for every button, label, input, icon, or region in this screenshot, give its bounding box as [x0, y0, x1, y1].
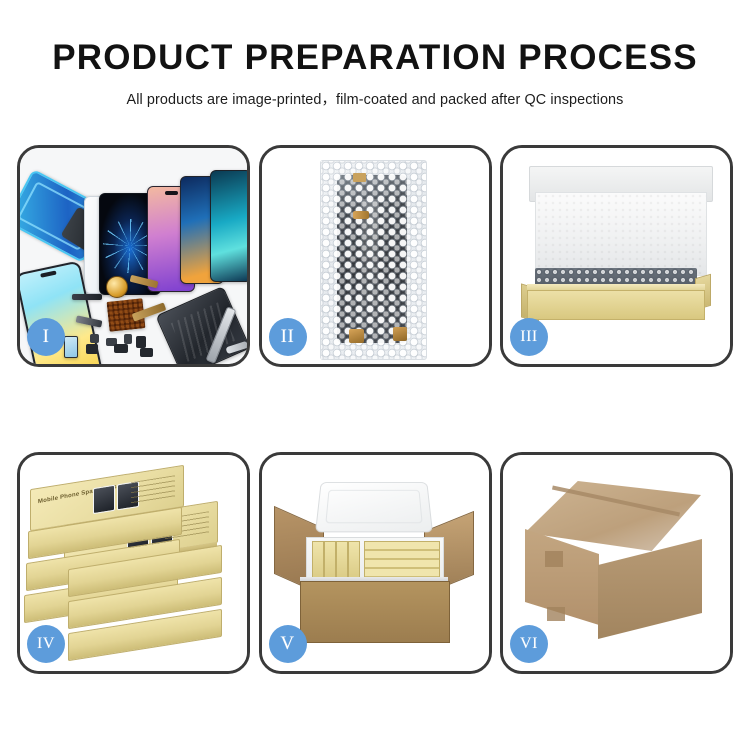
box-window-icon	[93, 485, 115, 514]
step-badge-5: V	[269, 625, 307, 663]
step-badge-1: I	[27, 318, 65, 356]
chip-part-icon	[136, 336, 146, 348]
step-badge-6: VI	[510, 625, 548, 663]
step-card-5: V	[259, 452, 492, 674]
yellow-box-front-icon	[527, 290, 705, 320]
screw-part-icon	[124, 334, 132, 344]
flex-cable-icon	[393, 327, 407, 341]
carton-right-face-icon	[598, 539, 702, 639]
step-card-2: II	[259, 145, 492, 367]
screw-part-icon	[90, 334, 99, 343]
page-title: PRODUCT PREPARATION PROCESS	[0, 40, 750, 77]
step-badge-2: II	[269, 318, 307, 356]
flex-cable-icon	[353, 211, 369, 219]
step-badge-3: III	[510, 318, 548, 356]
foam-texture-icon	[536, 193, 706, 275]
chip-part-icon	[86, 344, 98, 354]
header: PRODUCT PREPARATION PROCESS All products…	[0, 0, 750, 109]
foam-lid-icon	[315, 482, 433, 532]
page-subtitle: All products are image-printed，film-coat…	[0, 88, 750, 109]
step-card-1: I	[17, 145, 250, 367]
step-card-3: III	[500, 145, 733, 367]
bubble-texture-icon	[321, 161, 426, 359]
flex-cable-icon	[349, 329, 364, 343]
ribbon-cable-icon	[72, 294, 102, 300]
carton-body-icon	[300, 581, 450, 643]
step-badge-4: IV	[27, 625, 65, 663]
step-card-4: Mobile Phone Spare Parts Mobile Phone Sp…	[17, 452, 250, 674]
chip-part-icon	[140, 348, 153, 357]
carton-tape-icon	[545, 551, 563, 567]
tape-icon	[353, 173, 366, 182]
step-card-6: VI	[500, 452, 733, 674]
carton-tape-icon	[547, 607, 565, 621]
mini-phone-icon	[64, 336, 78, 358]
teal-phone-icon	[210, 170, 247, 282]
box-spec-lines-icon	[131, 475, 175, 504]
foam-sheet-icon	[535, 192, 707, 276]
coin-part-icon	[106, 276, 128, 298]
steps-grid: I II	[17, 145, 733, 674]
bubble-wrap-bag-icon	[320, 160, 427, 360]
product-preparation-infographic: PRODUCT PREPARATION PROCESS All products…	[0, 0, 750, 750]
chip-part-icon	[114, 344, 128, 353]
